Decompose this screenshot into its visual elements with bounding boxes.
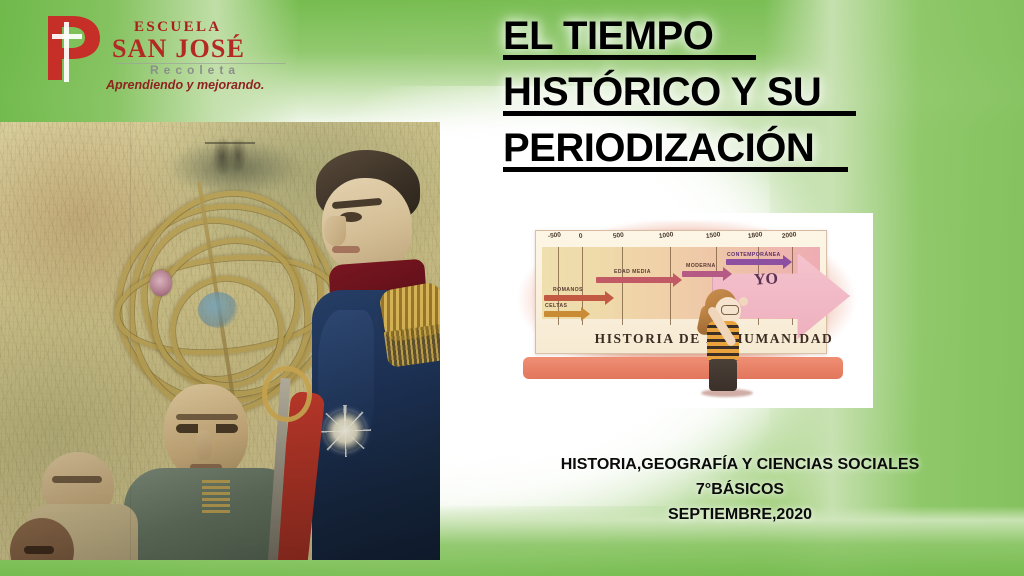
- page-title: EL TIEMPO HISTÓRICO Y SU PERIODIZACIÓN: [503, 8, 903, 176]
- subtitle-line-subject: HISTORIA,GEOGRAFÍA Y CIENCIAS SOCIALES: [500, 452, 980, 477]
- timeline-tick: [622, 247, 623, 325]
- timeline-board: -500 0 500 1000 1500 1800 2000 YO CELTAS…: [535, 230, 827, 354]
- timeline-tick-label: 1800: [748, 231, 763, 240]
- timeline-tick-label: 0: [579, 233, 583, 240]
- timeline-tick-label: 1500: [706, 231, 721, 240]
- title-line-1-text: EL TIEMPO: [503, 14, 713, 58]
- title-line-3-text: PERIODIZACIÓN: [503, 126, 814, 170]
- title-underline-1: [503, 55, 756, 60]
- timeline-tick-label: -500: [548, 231, 562, 240]
- timeline-tick-label: 2000: [782, 231, 797, 240]
- timeline-child-figure: [699, 289, 753, 397]
- subtitle-line-grade: 7°BÁSICOS: [500, 477, 980, 502]
- slide-canvas: ESCUELA SAN JOSÉ Recoleta Aprendiendo y …: [0, 0, 1024, 576]
- timeline-period-label: CELTAS: [545, 303, 567, 309]
- timeline-tick-label: 500: [613, 232, 625, 240]
- title-underline-2: [503, 111, 856, 116]
- logo-slogan: Aprendiendo y mejorando.: [106, 78, 264, 92]
- title-line-3: PERIODIZACIÓN: [503, 120, 903, 176]
- timeline-tick-label: 1000: [659, 231, 674, 240]
- school-logo: ESCUELA SAN JOSÉ Recoleta Aprendiendo y …: [30, 6, 290, 92]
- subtitle-block: HISTORIA,GEOGRAFÍA Y CIENCIAS SOCIALES 7…: [500, 452, 980, 527]
- collage-color-tone: [0, 122, 440, 560]
- logo-p-cross-icon: [38, 10, 110, 84]
- title-line-2-text: HISTÓRICO Y SU: [503, 70, 821, 114]
- child-glasses-icon: [721, 305, 739, 315]
- timeline-period-label: MODERNA: [686, 263, 716, 269]
- history-collage-image: [0, 122, 440, 560]
- title-line-2: HISTÓRICO Y SU: [503, 64, 903, 120]
- timeline-tick: [670, 247, 671, 325]
- title-underline-3: [503, 167, 848, 172]
- timeline-period-arrow: [726, 259, 784, 265]
- title-line-1: EL TIEMPO: [503, 8, 903, 64]
- timeline-illustration: -500 0 500 1000 1500 1800 2000 YO CELTAS…: [503, 213, 873, 408]
- logo-text-block: ESCUELA SAN JOSÉ Recoleta Aprendiendo y …: [110, 8, 292, 92]
- child-pants: [709, 359, 737, 391]
- timeline-period-arrow: [544, 295, 606, 301]
- timeline-ground: [523, 357, 843, 379]
- timeline-period-arrow: [682, 271, 724, 277]
- timeline-period-arrow: [596, 277, 674, 283]
- child-hand: [739, 297, 748, 306]
- subtitle-line-date: SEPTIEMBRE,2020: [500, 502, 980, 527]
- logo-line-recoleta: Recoleta: [150, 63, 240, 77]
- logo-line-sanjose: SAN JOSÉ: [112, 34, 245, 64]
- timeline-period-label: CONTEMPORÁNEA: [727, 252, 781, 258]
- timeline-period-label: EDAD MEDIA: [614, 269, 651, 275]
- timeline-you-label: YO: [754, 270, 779, 289]
- timeline-period-arrow: [544, 311, 582, 317]
- timeline-period-label: ROMANOS: [553, 287, 583, 293]
